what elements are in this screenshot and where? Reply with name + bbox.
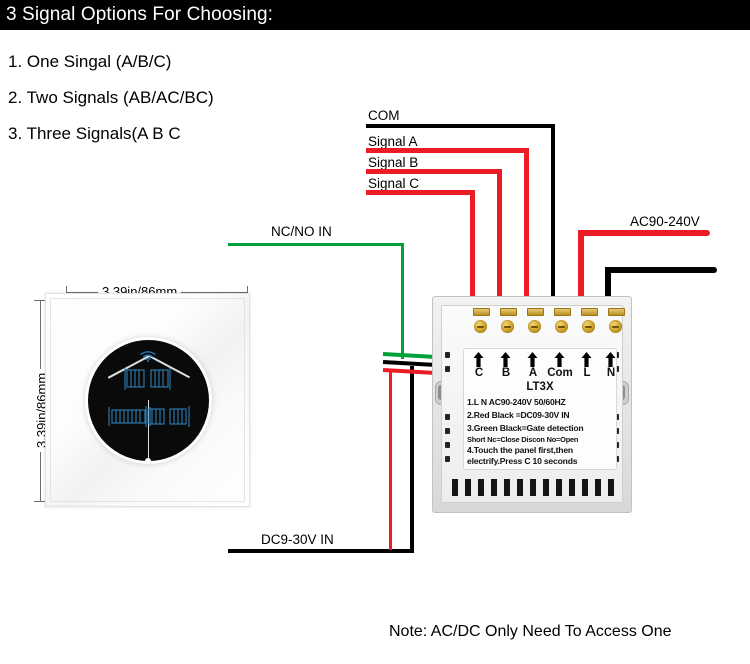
wire-signal-c-horizontal [366, 190, 475, 195]
touch-dial[interactable] [88, 340, 209, 461]
instruction-line-2: 2.Red Black =DC09-30V IN [467, 410, 569, 420]
model-number: LT3X [464, 381, 616, 393]
vent-left-5 [445, 442, 450, 448]
footer-note: Note: AC/DC Only Need To Access One [389, 623, 672, 641]
wire-label-nc-no-in: NC/NO IN [271, 224, 332, 239]
vent-left-3 [445, 414, 450, 420]
instruction-line-1: 1.L N AC90-240V 50/60HZ [467, 397, 566, 407]
wire-dc-vertical [410, 366, 414, 553]
terminal-label-a: A [523, 367, 543, 379]
wire-signal-a-vertical [524, 148, 529, 320]
wire-live-horizontal [578, 230, 710, 236]
terminal-clamp-b [500, 308, 517, 316]
indicator-dot [145, 458, 151, 464]
heat-fin [569, 479, 575, 496]
terminal-clamp-a [527, 308, 544, 316]
terminal-label-com: Com [546, 367, 574, 379]
option-item-3: 3. Three Signals(A B C [8, 124, 181, 144]
terminal-screw-b[interactable] [501, 320, 514, 333]
heat-fin [543, 479, 549, 496]
terminal-label-l: L [577, 367, 597, 379]
terminal-clamp-l [581, 308, 598, 316]
heat-fin [517, 479, 523, 496]
heat-fin [465, 479, 471, 496]
wire-label-dc-in: DC9-30V IN [261, 532, 334, 547]
wire-label-ac-input: AC90-240V [630, 214, 700, 229]
wire-label-signal-b: Signal B [368, 155, 418, 170]
terminal-clamp-c [473, 308, 490, 316]
heat-fin [595, 479, 601, 496]
terminal-label-n: N [601, 367, 617, 379]
vent-left-1 [445, 352, 450, 358]
heat-fin [452, 479, 458, 496]
wire-label-com: COM [368, 108, 400, 123]
terminal-screw-l[interactable] [582, 320, 595, 333]
heat-fin [491, 479, 497, 496]
instruction-line-5: electrify.Press C 10 seconds [467, 456, 577, 466]
terminal-arrow-a [527, 352, 538, 367]
instruction-sub-note: Short Nc=Close Discon No=Open [467, 435, 578, 444]
terminal-clamp-com [554, 308, 571, 316]
heat-fin [504, 479, 510, 496]
option-item-1: 1. One Singal (A/B/C) [8, 52, 171, 72]
double-swing-gate-icon [124, 366, 172, 392]
page-title: 3 Signal Options For Choosing: [0, 0, 750, 30]
heat-fin [556, 479, 562, 496]
module-printed-label: C B A Com L N LT3X 1.L N AC90-240V 50/60… [463, 348, 617, 470]
terminal-screw-com[interactable] [555, 320, 568, 333]
instruction-line-6: quick flashing configuration App [467, 467, 594, 470]
wire-signal-a-horizontal [366, 148, 529, 153]
terminal-clamp-n [608, 308, 625, 316]
terminal-arrow-com [554, 352, 565, 367]
terminal-arrow-b [500, 352, 511, 367]
heat-fin [582, 479, 588, 496]
terminal-screw-n[interactable] [609, 320, 622, 333]
wire-signal-b-horizontal [366, 169, 502, 174]
double-leaf-gate-icon [144, 404, 192, 428]
wire-dc-red-vertical [389, 372, 392, 550]
wire-dc-horizontal [228, 549, 414, 553]
instruction-line-4: 4.Touch the panel first,then [467, 445, 573, 455]
vent-left-4 [445, 428, 450, 434]
wire-gate-detect-vertical [401, 243, 404, 359]
vent-left-2 [445, 366, 450, 372]
option-item-2: 2. Two Signals (AB/AC/BC) [8, 88, 214, 108]
terminal-label-c: C [469, 367, 489, 379]
switch-back-module: C B A Com L N LT3X 1.L N AC90-240V 50/60… [432, 296, 632, 513]
touch-switch-panel[interactable] [45, 293, 250, 507]
wifi-icon [140, 351, 156, 362]
wire-label-signal-c: Signal C [368, 176, 419, 191]
instruction-line-3: 3.Green Black=Gate detection [467, 423, 583, 433]
heat-fin [478, 479, 484, 496]
heat-fin [530, 479, 536, 496]
wire-neutral-horizontal [605, 267, 717, 273]
terminal-arrow-c [473, 352, 484, 367]
terminal-arrow-l [581, 352, 592, 367]
terminal-label-b: B [496, 367, 516, 379]
wire-label-signal-a: Signal A [368, 134, 418, 149]
terminal-screw-a[interactable] [528, 320, 541, 333]
module-faceplate: C B A Com L N LT3X 1.L N AC90-240V 50/60… [441, 305, 623, 503]
terminal-arrow-n [605, 352, 616, 367]
wire-gate-detect-horizontal [228, 243, 404, 246]
wire-com-vertical [551, 124, 555, 320]
vent-left-6 [445, 456, 450, 462]
wire-com-horizontal [366, 124, 555, 128]
terminal-screw-c[interactable] [474, 320, 487, 333]
heat-fin [608, 479, 614, 496]
